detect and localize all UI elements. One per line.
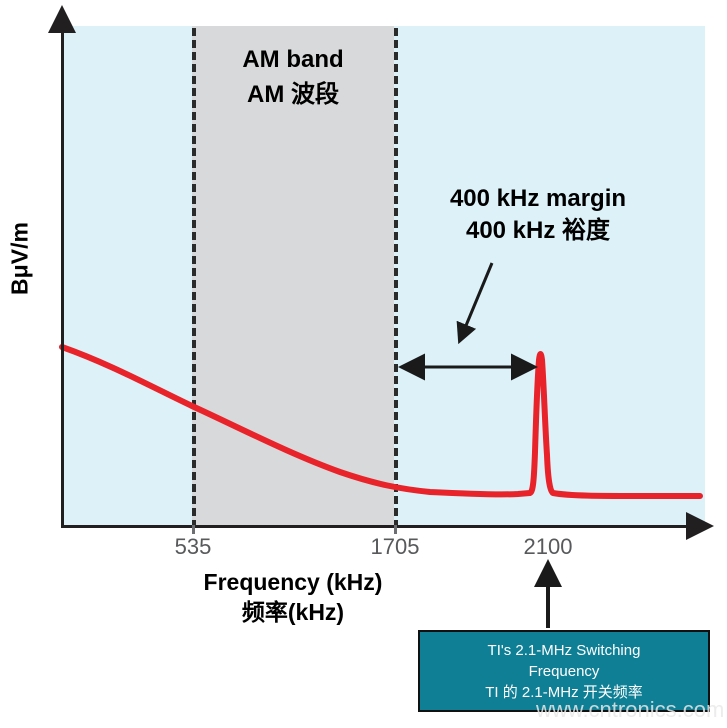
x-tick-1705 — [394, 525, 397, 534]
x-tick-label-535: 535 — [138, 534, 248, 560]
x-tick-label-1705: 1705 — [340, 534, 450, 560]
watermark: www.cntronics.com — [536, 697, 724, 723]
y-axis-arrow-icon — [48, 5, 76, 33]
am-band-label-en: AM band — [202, 42, 384, 77]
emi-spectrum-figure: 535 1705 2100 Frequency (kHz) 频率(kHz) Bμ… — [0, 0, 727, 728]
x-axis-title-en: Frequency (kHz) — [93, 567, 493, 597]
x-axis-title: Frequency (kHz) 频率(kHz) — [93, 567, 493, 627]
margin-label-en: 400 kHz margin — [408, 183, 668, 215]
x-axis-arrow-icon — [686, 512, 714, 540]
x-axis-line — [61, 525, 689, 528]
x-tick-535 — [192, 525, 195, 534]
margin-label-cn: 400 kHz 裕度 — [408, 215, 668, 247]
margin-label: 400 kHz margin 400 kHz 裕度 — [408, 183, 668, 247]
am-band-label: AM band AM 波段 — [202, 42, 384, 112]
x-tick-label-2100: 2100 — [493, 534, 603, 560]
am-band-label-cn: AM 波段 — [202, 77, 384, 112]
x-axis-title-cn: 频率(kHz) — [93, 597, 493, 627]
y-axis-line — [61, 30, 64, 528]
callout-line-2: Frequency — [529, 661, 600, 682]
am-band-upper-boundary — [394, 28, 398, 528]
am-band-lower-boundary — [192, 28, 196, 528]
callout-line-1: TI's 2.1-MHz Switching — [488, 640, 641, 661]
y-axis-title: BμV/m — [7, 204, 34, 314]
